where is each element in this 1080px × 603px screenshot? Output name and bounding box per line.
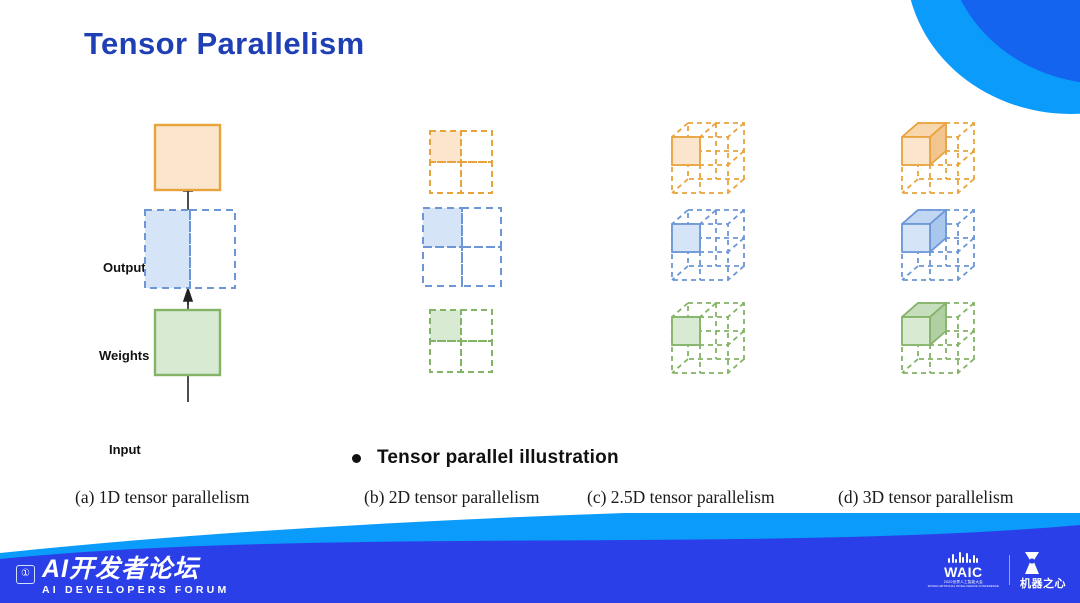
figure-tensor-parallelism: Output Weights Input (0, 105, 1080, 415)
slide-root: Tensor Parallelism Output Weights Input (0, 0, 1080, 603)
panel-1d-tensor-parallelism (60, 105, 310, 415)
partner-logos: WAIC 2020世界人工智能大会 WORLD ARTIFICIAL INTEL… (928, 550, 1066, 590)
waic-logo: WAIC 2020世界人工智能大会 WORLD ARTIFICIAL INTEL… (928, 552, 999, 588)
caption-1d: (a) 1D tensor parallelism (75, 487, 249, 508)
circled-1-icon: ① (16, 565, 35, 584)
row-label-input: Input (109, 442, 141, 457)
forum-logo: ① AI开发者论坛 AI DEVELOPERS FORUM (16, 557, 229, 596)
bullet-dot-icon (352, 454, 361, 463)
caption-25d: (c) 2.5D tensor parallelism (587, 487, 775, 508)
forum-logo-english: AI DEVELOPERS FORUM (42, 585, 229, 596)
caption-2d: (b) 2D tensor parallelism (364, 487, 539, 508)
bullet-text: Tensor parallel illustration (377, 447, 619, 469)
synced-logo: 机器之心 (1020, 550, 1066, 590)
panel-1d-svg (60, 105, 310, 415)
panel-25d-tensor-parallelism (600, 105, 850, 415)
forum-logo-chinese: AI开发者论坛 (42, 557, 229, 582)
panel-3d-tensor-parallelism (830, 105, 1080, 415)
footer-band: ① AI开发者论坛 AI DEVELOPERS FORUM WAIC 2020世… (0, 513, 1080, 603)
synced-robot-icon (1020, 550, 1044, 576)
panel-3d-svg (830, 105, 1080, 415)
synced-name: 机器之心 (1020, 579, 1066, 590)
panel-25d-svg (600, 105, 850, 415)
waic-subtitle-en: WORLD ARTIFICIAL INTELLIGENCE CONFERENCE (928, 585, 999, 588)
forum-logo-words: AI开发者论坛 AI DEVELOPERS FORUM (42, 557, 229, 596)
bullet-item: Tensor parallel illustration (352, 447, 619, 469)
page-title: Tensor Parallelism (84, 26, 365, 62)
corner-arc-dark-icon (946, 0, 1080, 84)
waic-name: WAIC (928, 565, 999, 579)
corner-arc-light-icon (906, 0, 1080, 114)
caption-3d: (d) 3D tensor parallelism (838, 487, 1013, 508)
waic-bars-icon (928, 552, 999, 563)
panel-2d-svg (355, 105, 605, 415)
panel-2d-tensor-parallelism (355, 105, 605, 415)
logo-divider (1009, 555, 1010, 585)
